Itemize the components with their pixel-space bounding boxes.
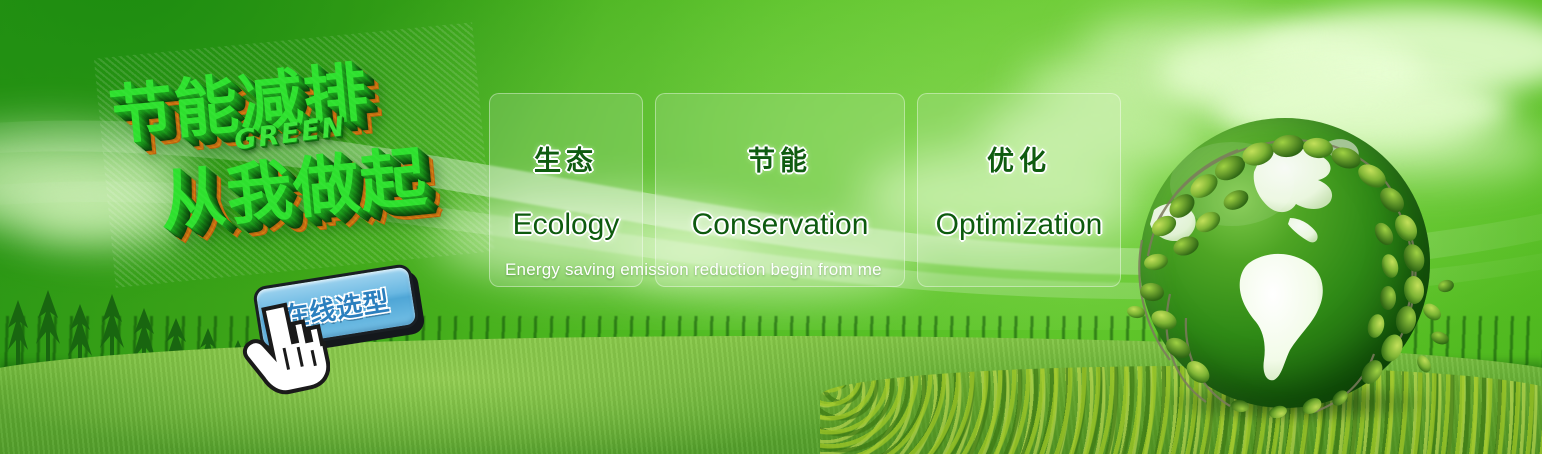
feature-card-conservation[interactable]: 节能 Conservation	[655, 93, 905, 287]
banner-tagline: Energy saving emission reduction begin f…	[505, 260, 882, 280]
headline-3d-artwork: 节能减排 GREEN 从我做起	[94, 22, 494, 287]
headline-line-2-text: 从我做起	[156, 139, 430, 241]
feature-card-title-en: Conservation	[692, 208, 869, 242]
feature-card-title-cn: 优化	[987, 139, 1051, 178]
feature-card-title-cn: 节能	[748, 139, 812, 178]
feature-card-title-en: Optimization	[936, 208, 1103, 242]
globe-continents	[1140, 118, 1430, 408]
green-ivy-globe-icon	[1140, 118, 1450, 418]
eco-hero-banner: 节能减排 GREEN 从我做起 生态 Ecology 节能 Conservati…	[0, 0, 1542, 454]
feature-card-ecology[interactable]: 生态 Ecology	[489, 93, 643, 287]
feature-card-title-cn: 生态	[534, 139, 598, 178]
hand-pointer-icon	[238, 300, 330, 396]
feature-card-optimization[interactable]: 优化 Optimization	[917, 93, 1121, 287]
feature-card-title-en: Ecology	[513, 208, 620, 242]
globe-sphere	[1140, 118, 1430, 408]
feature-card-list: 生态 Ecology 节能 Conservation 优化 Optimizati…	[489, 93, 1121, 287]
